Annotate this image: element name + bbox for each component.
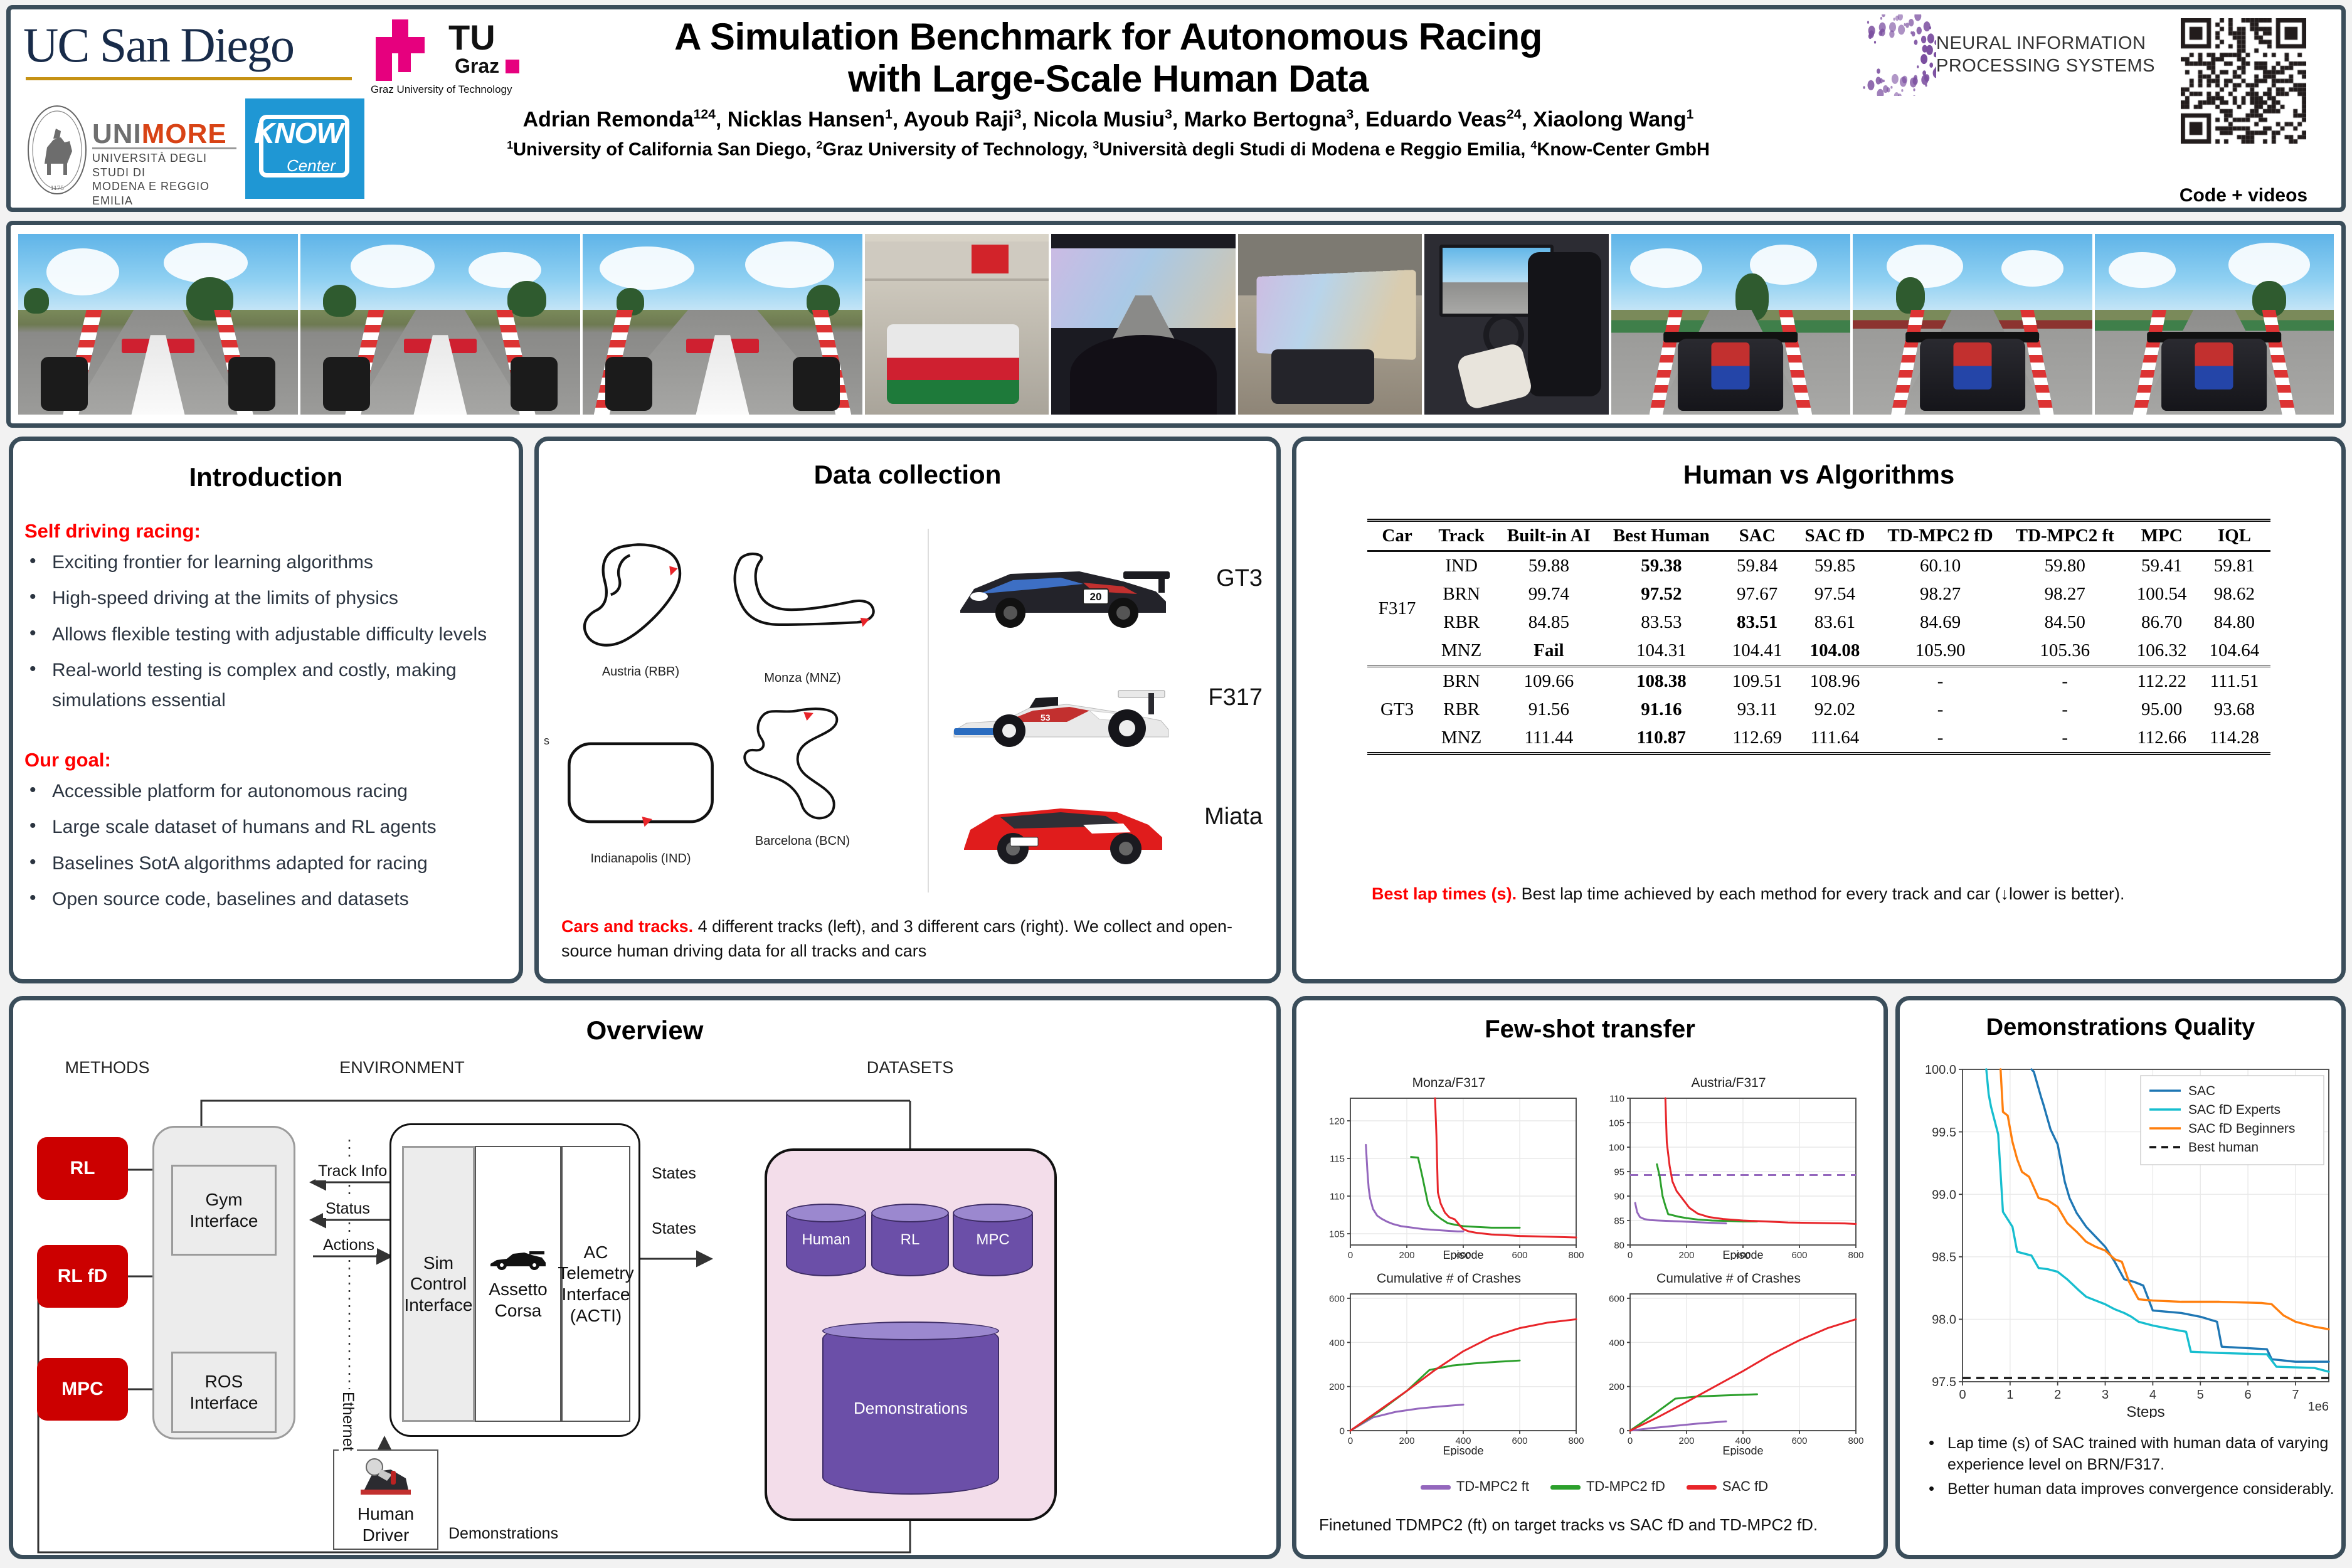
- table-column-header: MPC: [2126, 521, 2198, 551]
- demonstrations-quality-panel: Demonstrations Quality 0123456797.598.09…: [1895, 996, 2346, 1559]
- track-map-grid: Austria (RBR) Monza (MNZ) Indianapolis (…: [558, 535, 928, 886]
- car-list: 20 GT3 53: [928, 529, 1266, 893]
- svg-text:115: 115: [1330, 1153, 1345, 1164]
- table-cell-value: -: [1876, 696, 2004, 724]
- table-cell-value: 104.08: [1794, 637, 1877, 666]
- table-cell-value: 93.11: [1721, 696, 1794, 724]
- hva-caption-rest: Best lap time achieved by each method fo…: [1517, 884, 2124, 903]
- unimore-more-text: MORE: [142, 119, 227, 149]
- table-cell-value: 105.90: [1876, 637, 2004, 666]
- arrow-label-demonstrations: Demonstrations: [446, 1525, 561, 1543]
- table-cell-value: -: [2005, 696, 2126, 724]
- dataset-label-rl: RL: [901, 1231, 920, 1249]
- table-cell-value: 100.54: [2126, 580, 2198, 608]
- table-column-header: Best Human: [1602, 521, 1721, 551]
- few-shot-chart-grid: Monza/F317 0200400600800105110115120Epis…: [1314, 1076, 1872, 1477]
- chart-title-monza-crashes: Cumulative # of Crashes: [1314, 1271, 1584, 1286]
- table-cell-value: 104.31: [1602, 637, 1721, 666]
- unimore-uni-text: UNI: [92, 119, 142, 149]
- list-item: Real-world testing is complex and costly…: [24, 655, 519, 715]
- demonstrations-quality-title: Demonstrations Quality: [1900, 1014, 2341, 1041]
- gt3-car-image: 20: [935, 529, 1186, 642]
- table-cell-value: 91.56: [1496, 696, 1602, 724]
- track-label-austria: Austria (RBR): [558, 665, 724, 679]
- svg-text:200: 200: [1678, 1250, 1694, 1260]
- svg-text:400: 400: [1609, 1338, 1624, 1348]
- svg-text:99.5: 99.5: [1932, 1126, 1956, 1140]
- track-map-monza: Monza (MNZ): [719, 541, 886, 698]
- svg-text:100.0: 100.0: [1925, 1063, 1956, 1077]
- svg-text:0: 0: [1628, 1436, 1633, 1446]
- table-cell-value: 112.66: [2126, 724, 2198, 754]
- table-cell-car: GT3: [1367, 666, 1428, 754]
- table-column-header: Car: [1367, 521, 1428, 551]
- know-center-logo: KNOW Center: [245, 98, 364, 199]
- introduction-panel: Introduction Self driving racing: Exciti…: [9, 437, 523, 983]
- photo-f317-onboard-2: [300, 234, 580, 415]
- chart-title-austria-crashes: Cumulative # of Crashes: [1594, 1271, 1863, 1286]
- chart-monza-f317-crashes: Cumulative # of Crashes 0200400600800020…: [1314, 1271, 1584, 1459]
- table-cell-value: 95.00: [2126, 696, 2198, 724]
- table-cell-value: 111.51: [2198, 666, 2271, 696]
- table-cell-value: 104.64: [2198, 637, 2271, 666]
- car-item-f317: 53 F317: [929, 648, 1268, 765]
- table-cell-value: 98.27: [1876, 580, 2004, 608]
- arrow-label-ethernet: Ethernet: [339, 1389, 357, 1454]
- table-cell-value: 91.16: [1602, 696, 1721, 724]
- list-item: Large scale dataset of humans and RL age…: [24, 812, 519, 842]
- overview-panel: Overview: [9, 996, 1281, 1559]
- photo-f317-onboard-1: [18, 234, 298, 415]
- list-item: Better human data improves convergence c…: [1921, 1479, 2335, 1500]
- author-list: Adrian Remonda124, Nicklas Hansen1, Ayou…: [387, 107, 1830, 132]
- svg-text:200: 200: [1399, 1436, 1414, 1446]
- svg-text:20: 20: [1090, 591, 1102, 603]
- method-box-rl[interactable]: RL: [37, 1137, 128, 1200]
- chart-monza-f317-laptime: Monza/F317 0200400600800105110115120Epis…: [1314, 1076, 1584, 1264]
- table-cell-value: -: [1876, 724, 2004, 754]
- table-cell-value: 97.54: [1794, 580, 1877, 608]
- dataset-cylinder-rl[interactable]: RL: [871, 1204, 949, 1276]
- table-cell-value: 106.32: [2126, 637, 2198, 666]
- svg-text:600: 600: [1791, 1436, 1807, 1446]
- table-cell-value: 98.27: [2005, 580, 2126, 608]
- intro-bullet-list-2: Accessible platform for autonomous racin…: [24, 776, 519, 914]
- acti-box[interactable]: ACTelemetryInterface(ACTI): [561, 1146, 630, 1422]
- photo-simulator-rig: [1238, 234, 1422, 415]
- arrow-label-actions: Actions: [320, 1236, 377, 1254]
- svg-text:90: 90: [1614, 1191, 1624, 1202]
- table-cell-track: MNZ: [1427, 724, 1496, 754]
- table-column-header: IQL: [2198, 521, 2271, 551]
- overview-column-environment: ENVIRONMENT: [277, 1058, 527, 1078]
- dataset-cylinder-mpc[interactable]: MPC: [953, 1204, 1033, 1276]
- sim-control-interface-label: SimControlInterface: [405, 1253, 473, 1316]
- svg-text:SAC: SAC: [2188, 1084, 2215, 1098]
- table-column-header: Track: [1427, 521, 1496, 551]
- assetto-corsa-box[interactable]: Assetto Corsa: [475, 1146, 561, 1422]
- table-cell-value: 84.50: [2005, 608, 2126, 637]
- svg-text:2: 2: [2054, 1388, 2061, 1402]
- table-cell-value: -: [2005, 724, 2126, 754]
- data-collection-panel: Data collection s Austria (RBR) Monza (M…: [534, 437, 1281, 983]
- table-cell-track: BRN: [1427, 580, 1496, 608]
- svg-text:200: 200: [1399, 1250, 1414, 1260]
- human-vs-algorithms-title: Human vs Algorithms: [1296, 460, 2341, 490]
- svg-text:105: 105: [1329, 1229, 1345, 1239]
- svg-text:95: 95: [1614, 1167, 1624, 1177]
- data-collection-title: Data collection: [539, 460, 1276, 490]
- svg-text:99.0: 99.0: [1932, 1188, 1956, 1202]
- legend-swatch: [1421, 1485, 1451, 1490]
- table-row: F317IND59.8859.3859.8459.8560.1059.8059.…: [1367, 551, 2271, 581]
- dataset-cylinder-human[interactable]: Human: [786, 1204, 866, 1276]
- svg-text:400: 400: [1329, 1338, 1345, 1348]
- ucsd-logo-rule: [26, 77, 352, 80]
- svg-text:Episode: Episode: [1443, 1249, 1483, 1260]
- svg-text:120: 120: [1329, 1116, 1345, 1126]
- table-cell-value: 114.28: [2198, 724, 2271, 754]
- table-cell-value: 99.74: [1496, 580, 1602, 608]
- svg-text:98.5: 98.5: [1932, 1251, 1956, 1264]
- table-cell-car: F317: [1367, 551, 1428, 667]
- track-label-monza: Monza (MNZ): [719, 671, 886, 686]
- table-cell-value: 59.41: [2126, 551, 2198, 581]
- know-center-k-text: KNOW: [254, 116, 343, 150]
- table-cell-track: MNZ: [1427, 637, 1496, 666]
- list-item: Open source code, baselines and datasets: [24, 884, 519, 914]
- track-map-indianapolis: Indianapolis (IND): [558, 722, 724, 879]
- table-cell-value: 86.70: [2126, 608, 2198, 637]
- data-collection-caption-bold: Cars and tracks.: [561, 917, 693, 936]
- table-cell-value: 84.80: [2198, 608, 2271, 637]
- page-title-line2: with Large-Scale Human Data: [387, 58, 1830, 100]
- unimore-divider: [92, 147, 236, 149]
- svg-text:600: 600: [1791, 1250, 1807, 1260]
- unimore-logo: 1175 UNIMORE UNIVERSITÀ DEGLI STUDI DI M…: [26, 101, 239, 201]
- chart-demonstrations-quality: 0123456797.598.098.599.099.5100.0Steps1e…: [1914, 1061, 2338, 1418]
- table-column-header: TD-MPC2 ft: [2005, 521, 2126, 551]
- list-item: Allows flexible testing with adjustable …: [24, 620, 519, 649]
- svg-text:6: 6: [2245, 1388, 2252, 1402]
- svg-text:200: 200: [1678, 1436, 1694, 1446]
- page-title-line1: A Simulation Benchmark for Autonomous Ra…: [387, 16, 1830, 58]
- qr-code-caption: Code + videos: [2168, 185, 2319, 206]
- table-cell-value: 59.80: [2005, 551, 2126, 581]
- svg-text:0: 0: [1959, 1388, 1966, 1402]
- table-row: RBR91.5691.1693.1192.02--95.0093.68: [1367, 696, 2271, 724]
- table-cell-value: 60.10: [1876, 551, 2004, 581]
- svg-text:SAC fD Experts: SAC fD Experts: [2188, 1103, 2280, 1117]
- ucsd-logo-text: UC San Diego: [23, 17, 356, 73]
- svg-text:1: 1: [2006, 1388, 2013, 1402]
- f317-car-image: 53: [935, 648, 1186, 761]
- overview-column-methods: METHODS: [26, 1058, 189, 1078]
- unimore-crest-icon: 1175: [26, 103, 88, 196]
- svg-text:600: 600: [1609, 1293, 1624, 1304]
- legend-label: TD-MPC2 fD: [1586, 1478, 1665, 1494]
- data-collection-caption: Cars and tracks. 4 different tracks (lef…: [561, 914, 1251, 963]
- neurips-logo-text: NEURAL INFORMATION PROCESSING SYSTEMS: [1936, 32, 2155, 78]
- table-cell-value: 59.88: [1496, 551, 1602, 581]
- svg-text:4: 4: [2149, 1388, 2156, 1402]
- table-cell-track: RBR: [1427, 608, 1496, 637]
- miata-car-image: [935, 767, 1186, 880]
- table-cell-value: 98.62: [2198, 580, 2271, 608]
- table-cell-track: RBR: [1427, 696, 1496, 724]
- car-item-miata: Miata: [929, 767, 1268, 884]
- svg-text:0: 0: [1619, 1426, 1624, 1436]
- list-item: Lap time (s) of SAC trained with human d…: [1921, 1433, 2335, 1475]
- intro-subheading-1: Self driving racing:: [24, 520, 519, 543]
- table-cell-value: 111.64: [1794, 724, 1877, 754]
- svg-text:0: 0: [1628, 1250, 1633, 1260]
- table-row: RBR84.8583.5383.5183.6184.6984.5086.7084…: [1367, 608, 2271, 637]
- table-cell-value: 83.53: [1602, 608, 1721, 637]
- svg-text:Episode: Episode: [1722, 1249, 1763, 1260]
- neurips-logo: NEURAL INFORMATION PROCESSING SYSTEMS: [1848, 14, 2162, 96]
- overview-title: Overview: [13, 1015, 1276, 1046]
- stray-label: s: [544, 734, 549, 748]
- photo-gt3-chase-3: [2095, 234, 2334, 415]
- table-cell-value: 83.61: [1794, 608, 1877, 637]
- car-name-f317: F317: [1208, 684, 1263, 711]
- svg-text:Episode: Episode: [1443, 1444, 1483, 1456]
- legend-label: SAC fD: [1722, 1478, 1768, 1494]
- dataset-cylinder-demonstrations[interactable]: Demonstrations: [822, 1322, 999, 1495]
- svg-text:SAC fD Beginners: SAC fD Beginners: [2188, 1121, 2295, 1136]
- ucsd-logo: UC San Diego: [23, 17, 356, 86]
- legend-label: TD-MPC2 ft: [1456, 1478, 1529, 1494]
- svg-text:0: 0: [1348, 1250, 1353, 1260]
- track-label-indianapolis: Indianapolis (IND): [558, 852, 724, 866]
- table-cell-value: 108.38: [1602, 666, 1721, 696]
- table-column-header: Built-in AI: [1496, 521, 1602, 551]
- table-cell-value: 112.22: [2126, 666, 2198, 696]
- svg-text:800: 800: [1568, 1436, 1584, 1446]
- dataset-label-human: Human: [802, 1231, 850, 1249]
- arrow-label-track-info: Track Info: [315, 1162, 389, 1180]
- table-cell-value: 59.84: [1721, 551, 1794, 581]
- gym-interface-label: GymInterface: [190, 1189, 258, 1231]
- svg-text:97.5: 97.5: [1932, 1375, 1956, 1389]
- dataset-label-mpc: MPC: [976, 1231, 1009, 1249]
- table-cell-value: 83.51: [1721, 608, 1794, 637]
- svg-text:85: 85: [1614, 1216, 1624, 1226]
- chart-austria-f317-laptime: Austria/F317 020040060080080859095100105…: [1594, 1076, 1863, 1264]
- neurips-swirl-icon: [1848, 14, 1936, 96]
- svg-text:53: 53: [1041, 712, 1051, 723]
- method-box-rl-fd[interactable]: RL fD: [37, 1245, 128, 1308]
- svg-text:200: 200: [1329, 1382, 1345, 1392]
- table-row: GT3BRN109.66108.38109.51108.96--112.2211…: [1367, 666, 2271, 696]
- table-cell-value: Fail: [1496, 637, 1602, 666]
- svg-text:Episode: Episode: [1722, 1444, 1763, 1456]
- svg-text:0: 0: [1348, 1436, 1353, 1446]
- table-cell-value: 110.87: [1602, 724, 1721, 754]
- logo-group-left: UC San Diego TU Graz Graz University of …: [19, 13, 383, 201]
- svg-text:3: 3: [2102, 1388, 2109, 1402]
- svg-text:105: 105: [1609, 1118, 1624, 1128]
- few-shot-transfer-panel: Few-shot transfer Monza/F317 02004006008…: [1292, 996, 1888, 1559]
- legend-item: TD-MPC2 ft: [1421, 1478, 1529, 1495]
- photo-human-driver-cockpit: [1424, 234, 1608, 415]
- legend-item: TD-MPC2 fD: [1550, 1478, 1665, 1495]
- svg-text:1175: 1175: [50, 184, 64, 192]
- table-row: MNZFail104.31104.41104.08105.90105.36106…: [1367, 637, 2271, 666]
- table-cell-value: 104.41: [1721, 637, 1794, 666]
- table-cell-value: 59.85: [1794, 551, 1877, 581]
- svg-text:800: 800: [1848, 1250, 1863, 1260]
- table-cell-value: 92.02: [1794, 696, 1877, 724]
- list-item: High-speed driving at the limits of phys…: [24, 583, 519, 613]
- affiliation-list: 1University of California San Diego, 2Gr…: [387, 139, 1830, 161]
- unimore-wordmark: UNIMORE: [92, 119, 227, 150]
- table-row: MNZ111.44110.87112.69111.64--112.66114.2…: [1367, 724, 2271, 754]
- svg-text:600: 600: [1512, 1436, 1527, 1446]
- few-shot-transfer-title: Few-shot transfer: [1296, 1015, 1883, 1044]
- unimore-subtitle: UNIVERSITÀ DEGLI STUDI DI MODENA E REGGI…: [92, 151, 239, 208]
- arrow-label-status: Status: [323, 1200, 373, 1218]
- photo-simulator-projection: [1051, 234, 1235, 415]
- human-vs-algorithms-panel: Human vs Algorithms CarTrackBuilt-in AIB…: [1292, 437, 2346, 983]
- svg-text:7: 7: [2292, 1388, 2299, 1402]
- svg-text:800: 800: [1848, 1436, 1863, 1446]
- arrow-label-states-1: States: [649, 1165, 699, 1183]
- svg-text:100: 100: [1609, 1142, 1624, 1153]
- human-driver-label: HumanDriver: [358, 1503, 414, 1545]
- legend-swatch: [1550, 1485, 1581, 1490]
- table-cell-value: 59.81: [2198, 551, 2271, 581]
- table-cell-value: 84.85: [1496, 608, 1602, 637]
- page-title: A Simulation Benchmark for Autonomous Ra…: [387, 16, 1830, 100]
- best-lap-times-table: CarTrackBuilt-in AIBest HumanSACSAC fDTD…: [1367, 519, 2271, 755]
- table-cell-value: 108.96: [1794, 666, 1877, 696]
- table-cell-value: 93.68: [2198, 696, 2271, 724]
- svg-text:Steps: Steps: [2126, 1404, 2164, 1418]
- title-block: A Simulation Benchmark for Autonomous Ra…: [387, 16, 1830, 160]
- ros-interface-label: ROSInterface: [190, 1371, 258, 1413]
- table-column-header: SAC fD: [1794, 521, 1877, 551]
- table-column-header: SAC: [1721, 521, 1794, 551]
- table-cell-value: 111.44: [1496, 724, 1602, 754]
- austria-track-shape-icon: [558, 535, 724, 660]
- svg-text:200: 200: [1609, 1382, 1624, 1392]
- gym-interface-box[interactable]: GymInterface: [171, 1165, 277, 1256]
- race-car-icon: [488, 1246, 548, 1273]
- photo-gt3-chase-2: [1853, 234, 2092, 415]
- table-cell-value: 97.52: [1602, 580, 1721, 608]
- photo-f317-onboard-3: [583, 234, 862, 415]
- track-label-barcelona: Barcelona (BCN): [719, 834, 886, 849]
- table-cell-value: 97.67: [1721, 580, 1794, 608]
- driver-icon: [356, 1453, 416, 1500]
- monza-track-shape-icon: [719, 541, 886, 667]
- photo-strip: [6, 221, 2346, 428]
- car-name-gt3: GT3: [1216, 565, 1263, 592]
- arrow-label-states-2: States: [649, 1220, 699, 1238]
- sim-control-interface-box[interactable]: SimControlInterface: [402, 1146, 475, 1422]
- list-item: Exciting frontier for learning algorithm…: [24, 548, 519, 577]
- hva-caption-bold: Best lap times (s).: [1372, 884, 1517, 903]
- track-map-barcelona: Barcelona (BCN): [719, 704, 886, 861]
- car-name-miata: Miata: [1204, 803, 1263, 830]
- overview-column-datasets: DATASETS: [797, 1058, 1023, 1078]
- table-cell-track: BRN: [1427, 666, 1496, 696]
- poster-header: UC San Diego TU Graz Graz University of …: [6, 5, 2346, 212]
- table-cell-track: IND: [1427, 551, 1496, 581]
- table-cell-value: 109.51: [1721, 666, 1794, 696]
- few-shot-legend: TD-MPC2 ftTD-MPC2 fDSAC fD: [1322, 1478, 1867, 1495]
- human-driver-box[interactable]: HumanDriver: [333, 1449, 438, 1550]
- svg-text:0: 0: [1340, 1426, 1345, 1436]
- table-column-header: TD-MPC2 fD: [1876, 521, 2004, 551]
- barcelona-track-shape-icon: [719, 704, 886, 830]
- table-cell-value: 84.69: [1876, 608, 2004, 637]
- svg-text:1e6: 1e6: [2308, 1400, 2329, 1414]
- svg-text:5: 5: [2197, 1388, 2204, 1402]
- chart-austria-f317-crashes: Cumulative # of Crashes 0200400600800020…: [1594, 1271, 1863, 1459]
- svg-text:600: 600: [1512, 1250, 1527, 1260]
- qr-code[interactable]: [2181, 18, 2306, 144]
- table-cell-value: 109.66: [1496, 666, 1602, 696]
- demonstrations-quality-bullet-list: Lap time (s) of SAC trained with human d…: [1921, 1433, 2335, 1504]
- svg-text:800: 800: [1568, 1250, 1584, 1260]
- intro-bullet-list-1: Exciting frontier for learning algorithm…: [24, 548, 519, 715]
- svg-text:98.0: 98.0: [1932, 1313, 1956, 1327]
- svg-text:110: 110: [1609, 1093, 1624, 1104]
- assetto-corsa-label: Assetto Corsa: [476, 1279, 560, 1321]
- ros-interface-box[interactable]: ROSInterface: [171, 1352, 277, 1433]
- table-cell-value: 112.69: [1721, 724, 1794, 754]
- acti-label: ACTelemetryInterface(ACTI): [558, 1242, 633, 1326]
- dataset-label-demonstrations: Demonstrations: [854, 1399, 968, 1418]
- table-cell-value: -: [1876, 666, 2004, 696]
- human-vs-algorithms-caption: Best lap times (s). Best lap time achiev…: [1372, 881, 2275, 907]
- know-center-c-text: Center: [287, 156, 336, 176]
- legend-item: SAC fD: [1687, 1478, 1768, 1495]
- table-cell-value: 59.38: [1602, 551, 1721, 581]
- list-item: Accessible platform for autonomous racin…: [24, 776, 519, 806]
- track-map-austria: Austria (RBR): [558, 535, 724, 692]
- chart-title-austria-laptime: Austria/F317: [1594, 1076, 1863, 1091]
- introduction-title: Introduction: [13, 462, 519, 492]
- svg-text:Best human: Best human: [2188, 1140, 2259, 1155]
- indianapolis-track-shape-icon: [558, 722, 724, 847]
- chart-title-monza-laptime: Monza/F317: [1314, 1076, 1584, 1091]
- method-box-mpc[interactable]: MPC: [37, 1358, 128, 1421]
- intro-subheading-2: Our goal:: [24, 749, 519, 771]
- few-shot-caption: Finetuned TDMPC2 (ft) on target tracks v…: [1319, 1513, 1871, 1536]
- svg-text:110: 110: [1330, 1191, 1345, 1202]
- svg-text:80: 80: [1614, 1240, 1624, 1251]
- table-cell-value: -: [2005, 666, 2126, 696]
- photo-gt3-chase-1: [1611, 234, 1850, 415]
- car-item-gt3: 20 GT3: [929, 529, 1268, 645]
- svg-text:600: 600: [1329, 1293, 1345, 1304]
- table-row: BRN99.7497.5297.6797.5498.2798.27100.549…: [1367, 580, 2271, 608]
- table-cell-value: 105.36: [2005, 637, 2126, 666]
- legend-swatch: [1687, 1485, 1717, 1490]
- list-item: Baselines SotA algorithms adapted for ra…: [24, 849, 519, 878]
- photo-f317-pitlane: [865, 234, 1049, 415]
